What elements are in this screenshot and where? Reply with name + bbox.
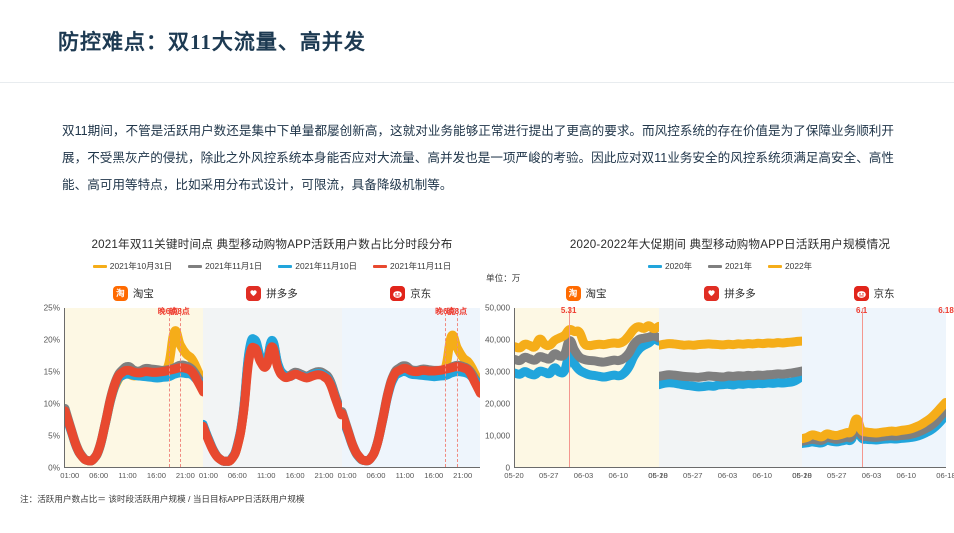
legend-item-3[interactable]: 2021年11月10日 — [278, 260, 357, 272]
app-header-pinduoduo: 拼多多 — [203, 282, 342, 304]
y-axis-tick: 5% — [48, 432, 60, 441]
legend-swatch-icon — [278, 265, 292, 268]
x-axis-tick: 06-10 — [609, 471, 628, 480]
series-line — [342, 335, 480, 461]
y-axis-tick: 10% — [44, 400, 60, 409]
x-axis-panel-taobao: 05-2005-2706-0306-1006-18 — [514, 471, 658, 485]
legend-label: 2021年10月31日 — [110, 260, 172, 272]
body-paragraph: 双11期间，不管是活跃用户数还是集中下单量都屡创新高，这就对业务能够正常进行提出… — [62, 118, 894, 199]
plot-panel-jd — [342, 308, 480, 467]
x-axis-panel-taobao: 01:0006:0011:0016:0021:00 — [64, 471, 203, 485]
y-axis-tick: 15% — [44, 368, 60, 377]
plot-panel-jd — [802, 308, 946, 467]
series-line — [65, 368, 203, 461]
legend-item-1[interactable]: 2020年 — [648, 260, 692, 272]
x-axis-tick: 05-20 — [504, 471, 523, 480]
series-lines — [203, 308, 341, 467]
legend-swatch-icon — [768, 265, 782, 268]
x-axis-tick: 05-20 — [648, 471, 667, 480]
x-axis-tick: 06-03 — [862, 471, 881, 480]
y-axis-tick: 0% — [48, 464, 60, 473]
y-axis-tick: 20,000 — [485, 400, 510, 409]
legend-swatch-icon — [648, 265, 662, 268]
chart-right-panels — [514, 308, 946, 468]
annotation-line — [180, 308, 181, 467]
plot-panel-taobao — [515, 308, 659, 467]
chart-right-legend: 2020年2021年2022年 — [484, 259, 946, 273]
series-lines — [65, 308, 203, 467]
x-axis-tick: 11:00 — [257, 471, 275, 480]
series-line — [203, 347, 341, 462]
series-lines — [802, 308, 946, 467]
taobao-icon: 淘 — [566, 286, 581, 301]
series-lines — [342, 308, 480, 467]
chart-right-unit-label: 单位：万 — [486, 272, 520, 284]
series-lines — [659, 308, 803, 467]
y-axis-tick: 25% — [44, 304, 60, 313]
y-axis-tick: 50,000 — [485, 304, 510, 313]
jd-icon — [390, 286, 405, 301]
legend-swatch-icon — [93, 265, 107, 268]
x-axis-panel-pinduoduo: 01:0006:0011:0016:0021:00 — [203, 471, 342, 485]
x-axis-tick: 06:00 — [89, 471, 108, 480]
y-axis-tick: 10,000 — [485, 432, 510, 441]
chart-right-title: 2020-2022年大促期间 典型移动购物APP日活跃用户规模情况 — [484, 236, 946, 254]
page-title: 防控难点：双11大流量、高并发 — [58, 26, 366, 56]
x-axis-tick: 05-27 — [683, 471, 702, 480]
app-header-taobao: 淘淘宝 — [514, 282, 658, 304]
annotation-line — [445, 308, 446, 467]
app-name-label: 京东 — [410, 286, 431, 301]
legend-label: 2021年11月10日 — [295, 260, 357, 272]
annotation-line — [569, 308, 570, 467]
legend-swatch-icon — [708, 265, 722, 268]
taobao-icon: 淘 — [113, 286, 128, 301]
annotation-line — [457, 308, 458, 467]
x-axis-tick: 21:00 — [176, 471, 195, 480]
x-axis-tick: 06-10 — [897, 471, 916, 480]
x-axis-tick: 01:00 — [60, 471, 79, 480]
legend-swatch-icon — [188, 265, 202, 268]
series-line — [659, 341, 803, 345]
x-axis-tick: 11:00 — [396, 471, 414, 480]
plot-panel-taobao — [65, 308, 203, 467]
x-axis-tick: 01:00 — [338, 471, 357, 480]
legend-item-1[interactable]: 2021年10月31日 — [93, 260, 172, 272]
chart-left-container: 2021年双11关键时间点 典型移动购物APP活跃用户数占比分时段分布 2021… — [18, 236, 480, 498]
annotation-label: 6.18 — [938, 306, 954, 315]
annotation-label: 晚8点 — [169, 306, 189, 317]
annotation-label: 5.31 — [561, 306, 577, 315]
legend-swatch-icon — [373, 265, 387, 268]
legend-item-4[interactable]: 2021年11月11日 — [373, 260, 451, 272]
series-line — [65, 373, 203, 461]
x-axis-tick: 06-18 — [936, 471, 954, 480]
x-axis-tick: 21:00 — [314, 471, 333, 480]
series-line — [342, 367, 480, 461]
pinduoduo-icon — [704, 286, 719, 301]
app-header-taobao: 淘淘宝 — [64, 282, 203, 304]
annotation-line — [862, 308, 863, 467]
annotation-label: 晚8点 — [447, 306, 467, 317]
annotation-line — [169, 308, 170, 467]
legend-label: 2021年 — [725, 260, 752, 272]
title-divider — [0, 82, 954, 83]
chart-right-app-row: 淘淘宝拼多多京东 — [484, 282, 946, 304]
chart-right-container: 2020-2022年大促期间 典型移动购物APP日活跃用户规模情况 2020年2… — [484, 236, 946, 498]
plot-panel-pinduoduo — [659, 308, 803, 467]
jd-icon — [854, 286, 869, 301]
legend-item-2[interactable]: 2021年11月1日 — [188, 260, 262, 272]
x-axis-tick: 16:00 — [147, 471, 166, 480]
app-name-label: 拼多多 — [724, 286, 756, 301]
x-axis-tick: 16:00 — [286, 471, 305, 480]
chart-right-plot: 010,00020,00030,00040,00050,000 5.316.16… — [484, 308, 946, 468]
slide-root: 防控难点：双11大流量、高并发 双11期间，不管是活跃用户数还是集中下单量都屡创… — [0, 0, 954, 533]
chart-left-title: 2021年双11关键时间点 典型移动购物APP活跃用户数占比分时段分布 — [18, 236, 480, 254]
chart-left-app-row: 淘淘宝拼多多京东 — [18, 282, 480, 304]
chart-left-x-axis: 01:0006:0011:0016:0021:0001:0006:0011:00… — [18, 471, 480, 485]
x-axis-tick: 01:00 — [199, 471, 218, 480]
chart-left-legend: 2021年10月31日2021年11月1日2021年11月10日2021年11月… — [18, 259, 480, 273]
x-axis-tick: 06-03 — [718, 471, 737, 480]
app-name-label: 淘宝 — [133, 286, 154, 301]
pinduoduo-icon — [246, 286, 261, 301]
x-axis-panel-jd: 05-2005-2706-0306-1006-18 — [802, 471, 946, 485]
x-axis-tick: 11:00 — [118, 471, 136, 480]
series-line — [342, 365, 480, 461]
app-header-jd: 京东 — [802, 282, 946, 304]
chart-right-y-axis: 010,00020,00030,00040,00050,000 — [484, 308, 514, 468]
app-name-label: 拼多多 — [266, 286, 298, 301]
app-name-label: 淘宝 — [586, 286, 607, 301]
series-line — [65, 331, 203, 461]
x-axis-tick: 05-27 — [539, 471, 558, 480]
x-axis-tick: 16:00 — [424, 471, 443, 480]
x-axis-tick: 05-27 — [827, 471, 846, 480]
legend-label: 2022年 — [785, 260, 812, 272]
x-axis-tick: 06-03 — [574, 471, 593, 480]
chart-left-plot: 0%5%10%15%20%25% 晚6点晚6点晚8点晚8点 — [18, 308, 480, 468]
legend-label: 2020年 — [665, 260, 692, 272]
y-axis-tick: 20% — [44, 336, 60, 345]
x-axis-tick: 21:00 — [453, 471, 472, 480]
app-name-label: 京东 — [874, 286, 895, 301]
x-axis-tick: 05-20 — [792, 471, 811, 480]
chart-left-y-axis: 0%5%10%15%20%25% — [18, 308, 64, 468]
x-axis-tick: 06-10 — [753, 471, 772, 480]
x-axis-tick: 06:00 — [228, 471, 247, 480]
y-axis-tick: 30,000 — [485, 368, 510, 377]
series-line — [659, 371, 803, 377]
plot-panel-pinduoduo — [203, 308, 341, 467]
chart-right-x-axis: 05-2005-2706-0306-1006-1805-2005-2706-03… — [484, 471, 946, 485]
legend-item-2[interactable]: 2021年 — [708, 260, 752, 272]
chart-left-panels — [64, 308, 480, 468]
x-axis-panel-pinduoduo: 05-2005-2706-0306-1006-18 — [658, 471, 802, 485]
app-header-jd: 京东 — [341, 282, 480, 304]
app-header-pinduoduo: 拼多多 — [658, 282, 802, 304]
x-axis-tick: 06:00 — [366, 471, 385, 480]
footnote: 注：活跃用户数占比＝ 该时段活跃用户规模 / 当日目标APP日活跃用户规模 — [20, 493, 305, 505]
y-axis-tick: 40,000 — [485, 336, 510, 345]
x-axis-panel-jd: 01:0006:0011:0016:0021:00 — [341, 471, 480, 485]
legend-label: 2021年11月1日 — [205, 260, 262, 272]
annotation-label: 6.1 — [856, 306, 867, 315]
series-line — [342, 371, 480, 460]
legend-item-3[interactable]: 2022年 — [768, 260, 812, 272]
series-lines — [515, 308, 659, 467]
legend-label: 2021年11月11日 — [390, 260, 451, 272]
